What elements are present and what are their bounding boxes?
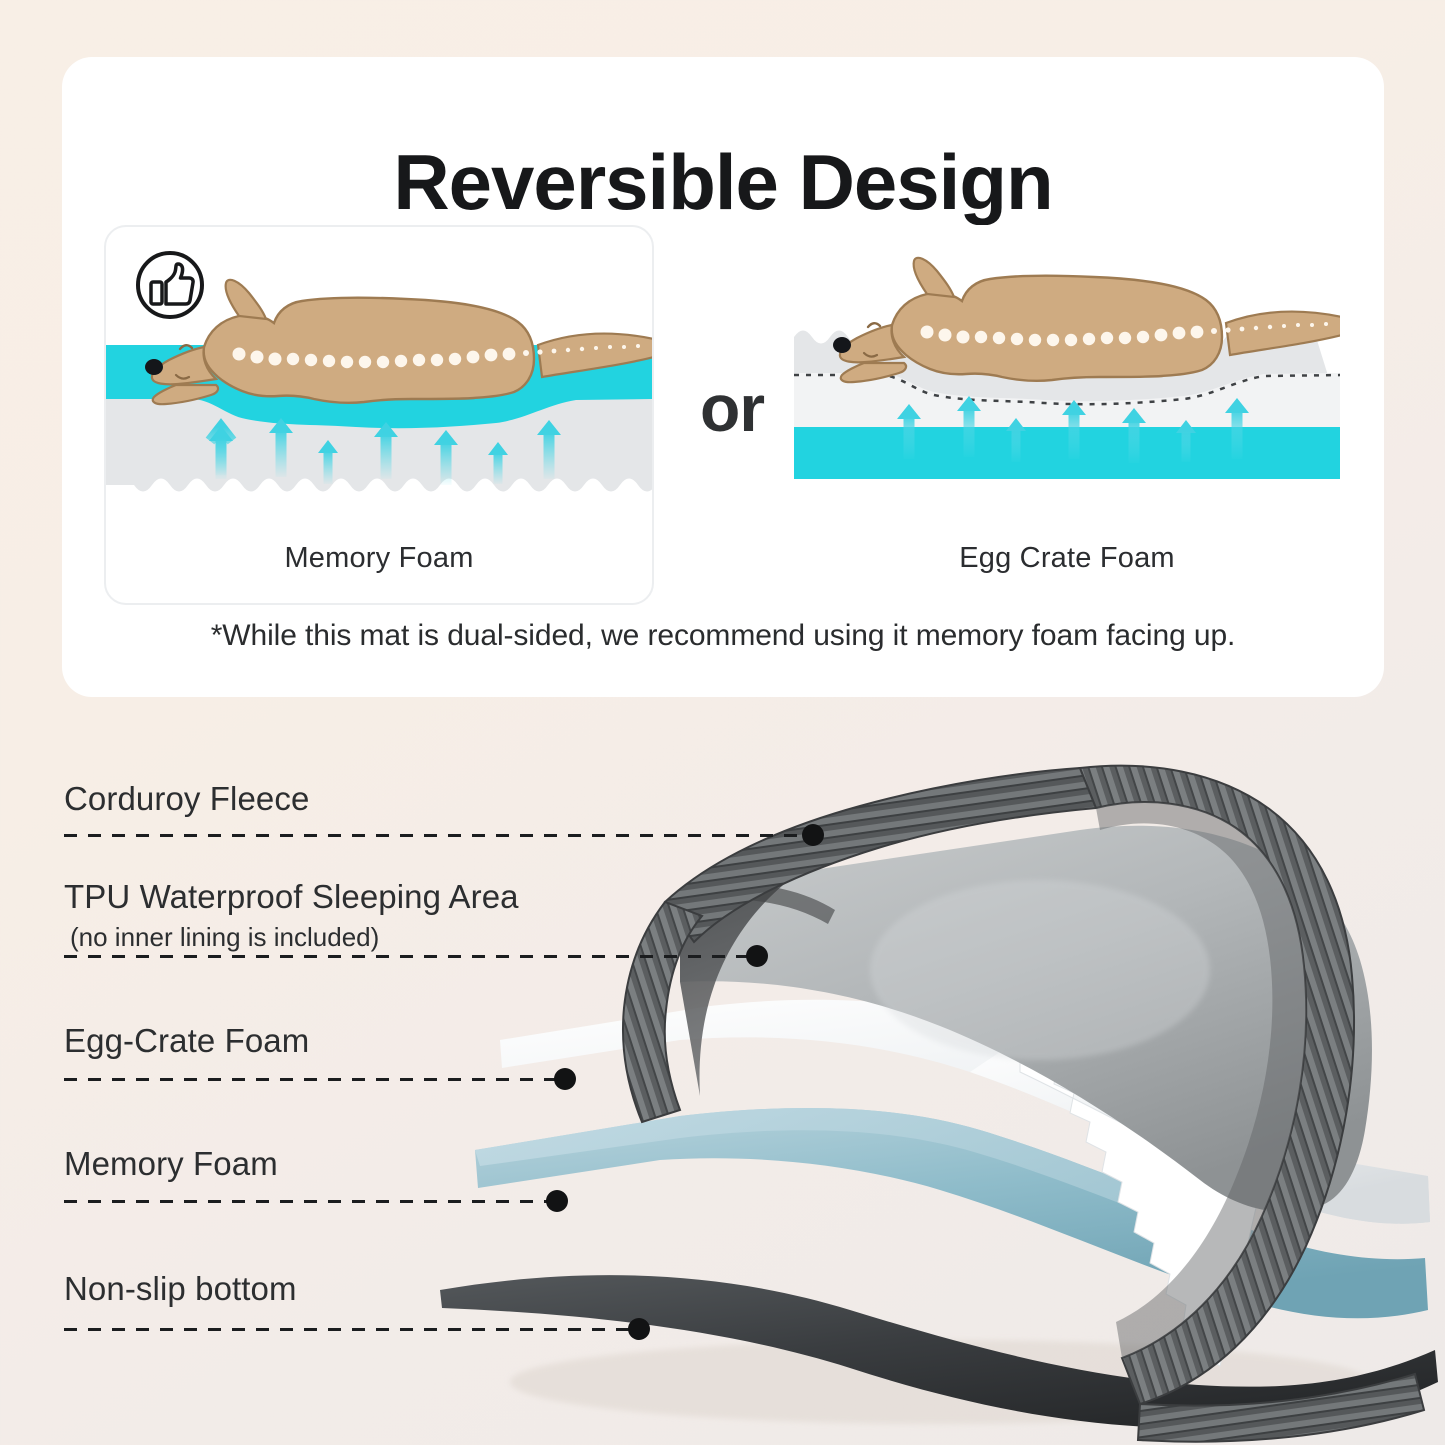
label-non-slip-bottom: Non-slip bottom — [64, 1270, 297, 1308]
label-corduroy-fleece: Corduroy Fleece — [64, 780, 309, 818]
panel-caption-egg-crate-foam: Egg Crate Foam — [794, 542, 1340, 575]
panel-memory-foam: Memory Foam — [104, 225, 654, 605]
leader-memory-foam — [64, 1200, 554, 1203]
page-title: Reversible Design — [62, 137, 1384, 228]
leader-tpu-waterproof — [64, 955, 754, 958]
comparison-panels: Memory Foam or — [104, 225, 1342, 605]
footnote-text: *While this mat is dual-sided, we recomm… — [62, 619, 1384, 653]
label-memory-foam: Memory Foam — [64, 1145, 278, 1183]
layers-breakdown: Corduroy Fleece TPU Waterproof Sleeping … — [0, 700, 1445, 1445]
leader-dot-tpu-waterproof — [746, 945, 768, 967]
leader-dot-memory-foam — [546, 1190, 568, 1212]
leader-non-slip-bottom — [64, 1328, 636, 1331]
leader-dot-corduroy-fleece — [802, 824, 824, 846]
divider-or-label: or — [672, 370, 792, 446]
label-tpu-waterproof-note: (no inner lining is included) — [70, 922, 379, 953]
reversible-design-card: Reversible Design — [62, 57, 1384, 697]
leader-dot-egg-crate-foam — [554, 1068, 576, 1090]
panel-egg-crate-foam: Egg Crate Foam — [792, 225, 1342, 605]
panel-caption-memory-foam: Memory Foam — [106, 542, 652, 575]
leader-dot-non-slip-bottom — [628, 1318, 650, 1340]
thumbs-up-icon — [134, 249, 206, 321]
egg-crate-foam-illustration — [794, 227, 1340, 522]
leader-egg-crate-foam — [64, 1078, 561, 1081]
label-tpu-waterproof: TPU Waterproof Sleeping Area — [64, 878, 519, 916]
label-egg-crate-foam: Egg-Crate Foam — [64, 1022, 309, 1060]
leader-corduroy-fleece — [64, 834, 810, 837]
